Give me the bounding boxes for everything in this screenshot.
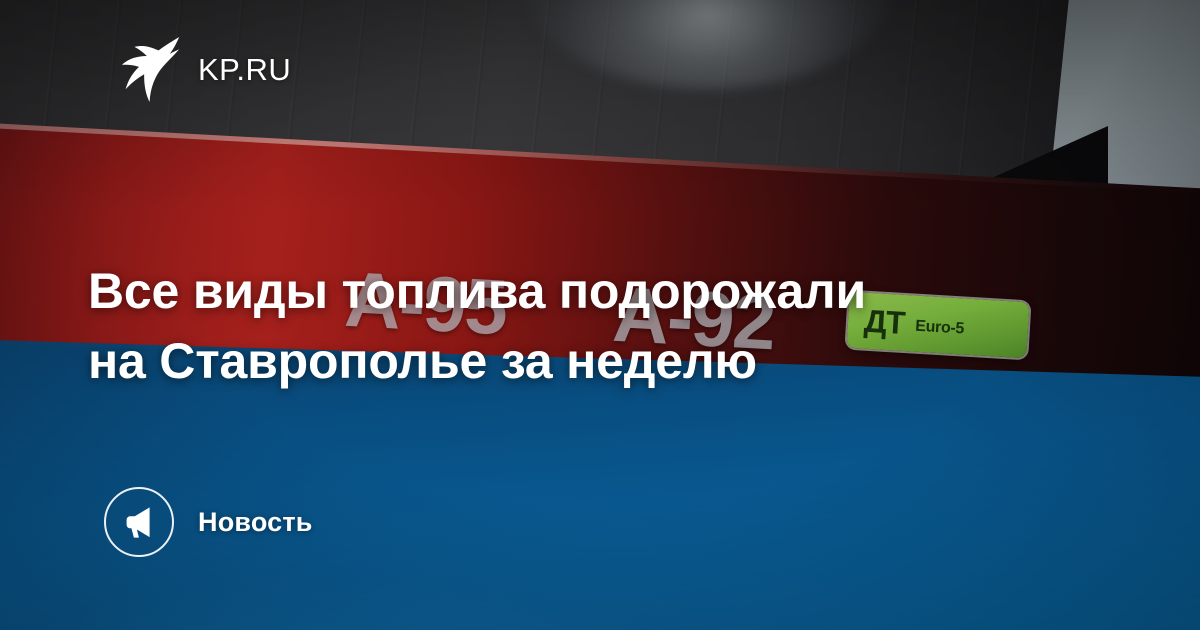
brand-name: KP.RU xyxy=(198,54,291,85)
status-badge-label: Новость xyxy=(198,509,313,536)
headline-line-1: Все виды топлива подорожали xyxy=(88,256,1098,326)
kp-ru-news-share-card: А-95 А-92 ДТ Euro-5 KP.RU Все виды топли… xyxy=(0,0,1200,630)
headline-line-2: на Ставрополье за неделю xyxy=(88,326,1098,396)
page-title: Все виды топлива подорожали на Ставропол… xyxy=(88,256,1098,396)
megaphone-icon xyxy=(104,487,174,557)
brand-lockup[interactable]: KP.RU xyxy=(116,36,291,102)
swallow-bird-icon xyxy=(116,36,180,102)
status-badge[interactable]: Новость xyxy=(104,487,313,557)
